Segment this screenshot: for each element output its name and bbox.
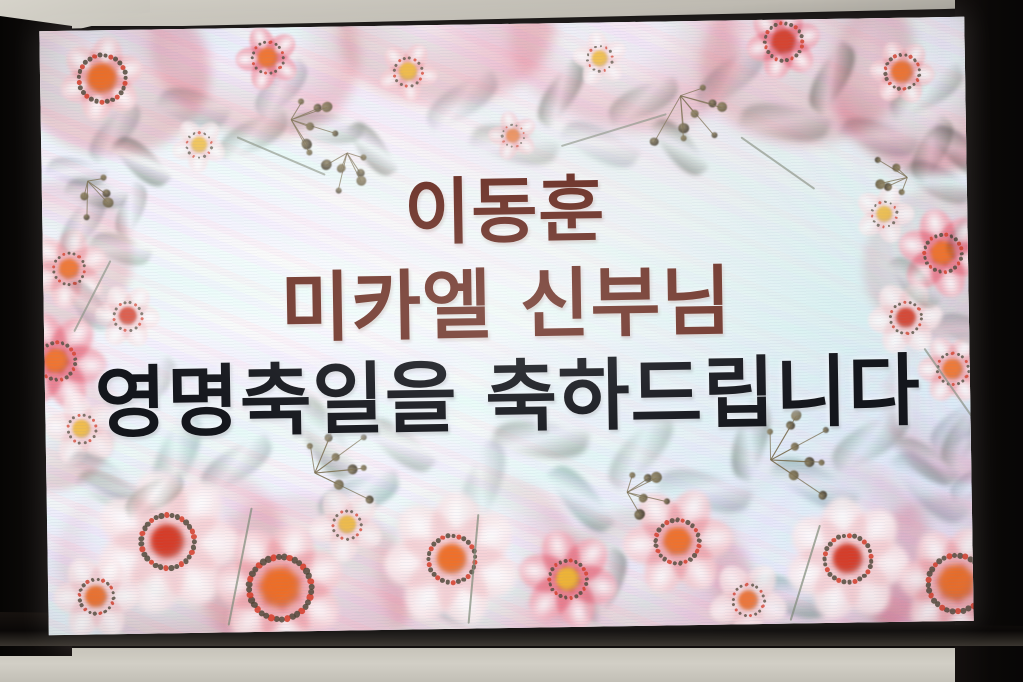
photo-scene: 이동훈 미카엘 신부님 영명축일을 축하드립니다 [0, 0, 1023, 682]
slide-text-block: 이동훈 미카엘 신부님 영명축일을 축하드립니다 [42, 167, 971, 447]
slide-text-line-3: 영명축일을 축하드립니다 [45, 351, 971, 447]
slide-text-line-2: 미카엘 신부님 [43, 258, 969, 352]
slide-text-line-1: 이동훈 [42, 167, 968, 256]
projected-slide: 이동훈 미카엘 신부님 영명축일을 축하드립니다 [39, 17, 973, 635]
